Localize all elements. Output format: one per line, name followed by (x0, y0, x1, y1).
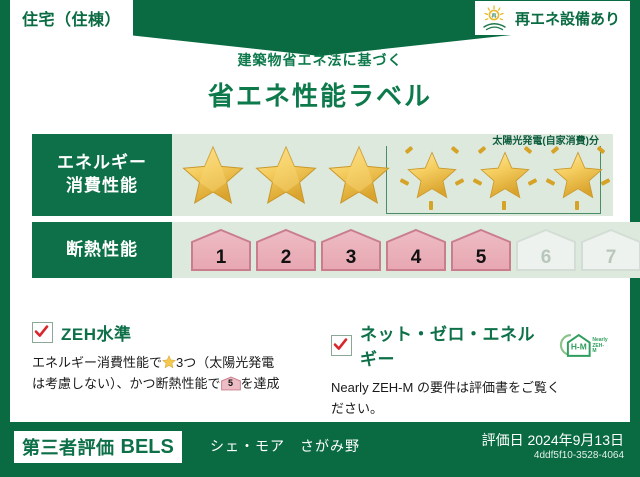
bels-prefix-label: 第三者評価 (22, 434, 115, 460)
checkbox-checked-icon (32, 322, 53, 343)
star-icon (162, 354, 176, 368)
renewable-energy-chip: 再 再エネ設備あり (475, 1, 630, 35)
page-title: 省エネ性能ラベル (0, 76, 640, 113)
insulation-level-3: 3 (320, 228, 382, 272)
star-solar-icon (543, 136, 613, 214)
nze-text-part2: ださい。 (331, 401, 383, 416)
sun-renewable-icon: 再 (481, 5, 509, 31)
evaluation-id: 4ddf5f10-3528-4064 (534, 450, 624, 461)
zeh-logo-text: H-M (571, 341, 587, 351)
insulation-label: 断熱性能 (32, 222, 172, 278)
zeh-text-part2: 3つ（太陽光発電 (176, 355, 274, 370)
criterion-zeh-standard: ZEH水準 エネルギー消費性能で3つ（太陽光発電 は考慮しない）、かつ断熱性能で… (32, 320, 309, 419)
insulation-level-inline-icon: 5 (221, 376, 241, 391)
insulation-level-number: 5 (450, 247, 512, 269)
criterion-zeh-header: ZEH水準 (32, 320, 309, 345)
criterion-nze-text: Nearly ZEH-M の要件は評価書をご覧く ださい。 (331, 377, 608, 419)
criterion-zeh-title: ZEH水準 (61, 320, 132, 345)
energy-label-line2: 消費性能 (66, 175, 138, 198)
bels-chip: 第三者評価 BELS (14, 431, 182, 463)
insulation-level-number: 6 (515, 247, 577, 269)
insulation-level-number: 2 (255, 247, 317, 269)
criterion-nze-header: ネット・ゼロ・エネルギー H-M Nearly ZEH-M (331, 320, 608, 370)
criterion-nze-title: ネット・ゼロ・エネルギー (360, 320, 546, 370)
star-icon (178, 136, 248, 214)
insulation-level-number: 4 (385, 247, 447, 269)
star-rating-group (172, 136, 613, 214)
insulation-levels-panel: 1 2 3 4 5 (172, 222, 640, 278)
star-icon (324, 136, 394, 214)
building-name: シェ・モア さがみ野 (210, 436, 360, 456)
nze-text-part1: Nearly ZEH-M の要件は評価書をご覧く (331, 380, 560, 395)
criterion-net-zero-energy: ネット・ゼロ・エネルギー H-M Nearly ZEH-M Nearly ZEH… (331, 320, 608, 419)
insulation-level-number: 3 (320, 247, 382, 269)
title-block: 建築物省エネ法に基づく 省エネ性能ラベル (0, 50, 640, 113)
star-solar-icon (470, 136, 540, 214)
zeh-text-part1: エネルギー消費性能で (32, 355, 162, 370)
insulation-level-number: 7 (580, 247, 640, 269)
energy-consumption-row: エネルギー 消費性能 太陽光発電(自家消費)分 (32, 134, 608, 216)
insulation-level-group: 1 2 3 4 5 (172, 228, 640, 272)
insulation-level-number: 1 (190, 247, 252, 269)
checkbox-checked-icon (331, 335, 352, 356)
svg-text:再: 再 (491, 12, 497, 19)
energy-stars-panel: 太陽光発電(自家消費)分 (172, 134, 613, 216)
ratings-section: エネルギー 消費性能 太陽光発電(自家消費)分 (32, 134, 608, 284)
energy-consumption-label: エネルギー 消費性能 (32, 134, 172, 216)
insulation-level-5: 5 (450, 228, 512, 272)
star-icon (251, 136, 321, 214)
zeh-m-house-logo: H-M Nearly ZEH-M (558, 332, 608, 358)
zeh-text-part4: を達成 (241, 376, 280, 391)
inline-house-number: 5 (221, 376, 241, 391)
star-solar-icon (397, 136, 467, 214)
zeh-text-part3: は考慮しない）、かつ断熱性能で (32, 376, 221, 391)
insulation-level-7: 7 (580, 228, 640, 272)
renewable-badge-label: 再エネ設備あり (515, 8, 620, 29)
building-type-chip: 住宅（住棟） (10, 0, 133, 36)
insulation-label-text: 断熱性能 (66, 239, 138, 262)
bottom-bar: 第三者評価 BELS シェ・モア さがみ野 評価日 2024年9月13日 4dd… (0, 422, 640, 477)
title-subtitle: 建築物省エネ法に基づく (0, 50, 640, 70)
insulation-level-6: 6 (515, 228, 577, 272)
criteria-section: ZEH水準 エネルギー消費性能で3つ（太陽光発電 は考慮しない）、かつ断熱性能で… (32, 320, 608, 419)
evaluation-date: 評価日 2024年9月13日 (482, 430, 624, 450)
energy-label-line1: エネルギー (57, 152, 147, 175)
top-bar: 住宅（住棟） 再 (0, 0, 640, 36)
building-type-label: 住宅（住棟） (22, 6, 121, 30)
energy-performance-label: 住宅（住棟） 再 (0, 0, 640, 477)
criterion-zeh-text: エネルギー消費性能で3つ（太陽光発電 は考慮しない）、かつ断熱性能で5を達成 (32, 352, 309, 394)
insulation-level-1: 1 (190, 228, 252, 272)
insulation-row: 断熱性能 1 2 3 (32, 222, 608, 278)
bels-mark-label: BELS (121, 436, 174, 459)
insulation-level-2: 2 (255, 228, 317, 272)
insulation-level-4: 4 (385, 228, 447, 272)
zeh-logo-caption-2: ZEH-M (592, 344, 608, 355)
